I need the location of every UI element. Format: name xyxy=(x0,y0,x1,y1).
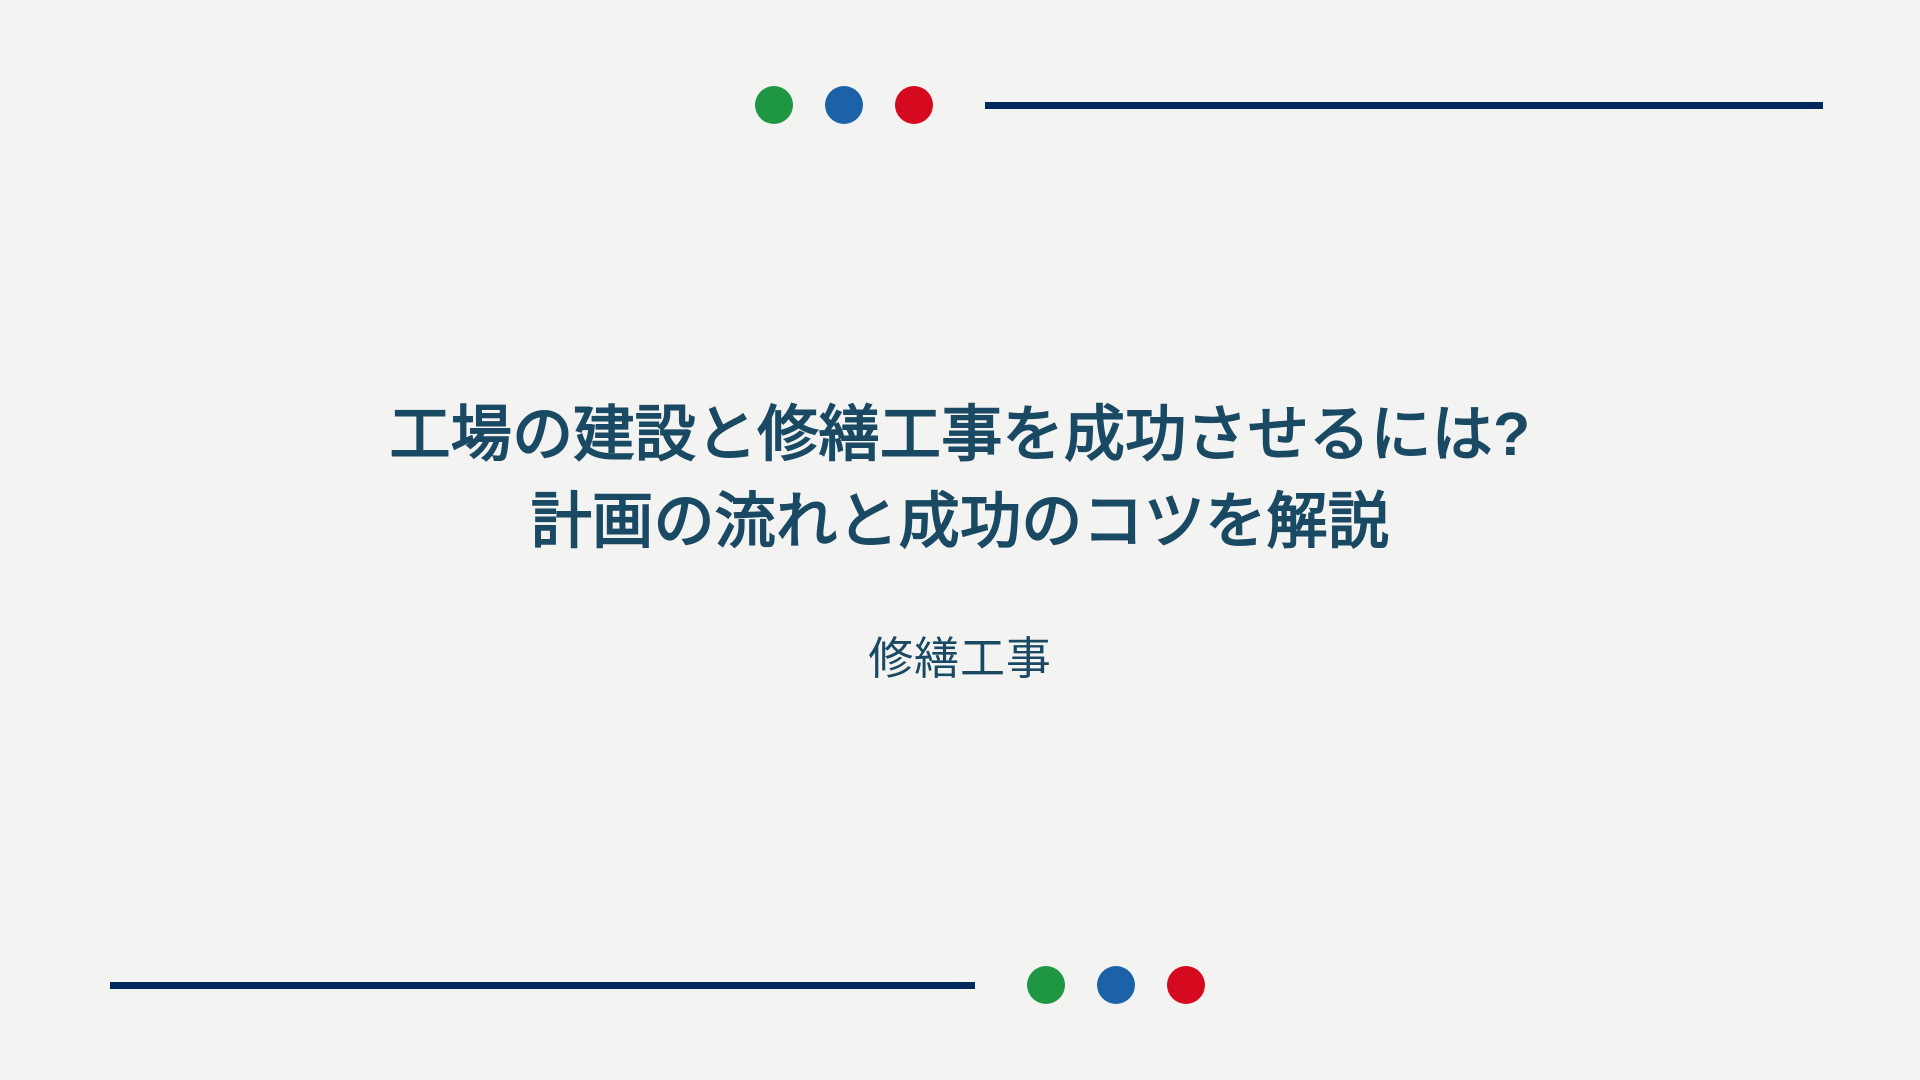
blue-dot xyxy=(825,86,863,124)
title-card: 工場の建設と修繕工事を成功させるには? 計画の流れと成功のコツを解説 修繕工事 xyxy=(0,0,1920,1080)
ornament-top xyxy=(0,75,1920,135)
horizontal-rule-bottom xyxy=(110,982,975,989)
green-dot xyxy=(755,86,793,124)
green-dot xyxy=(1027,966,1065,1004)
blue-dot xyxy=(1097,966,1135,1004)
red-dot xyxy=(1167,966,1205,1004)
page-title-line-2: 計画の流れと成功のコツを解説 xyxy=(389,478,1530,565)
page-title: 工場の建設と修繕工事を成功させるには? 計画の流れと成功のコツを解説 xyxy=(389,391,1530,564)
page-subtitle: 修繕工事 xyxy=(868,630,1052,689)
red-dot xyxy=(895,86,933,124)
page-title-line-1: 工場の建設と修繕工事を成功させるには? xyxy=(389,391,1530,478)
title-block: 工場の建設と修繕工事を成功させるには? 計画の流れと成功のコツを解説 修繕工事 xyxy=(0,0,1920,1080)
ornament-bottom xyxy=(0,955,1920,1015)
horizontal-rule-top xyxy=(985,102,1823,109)
